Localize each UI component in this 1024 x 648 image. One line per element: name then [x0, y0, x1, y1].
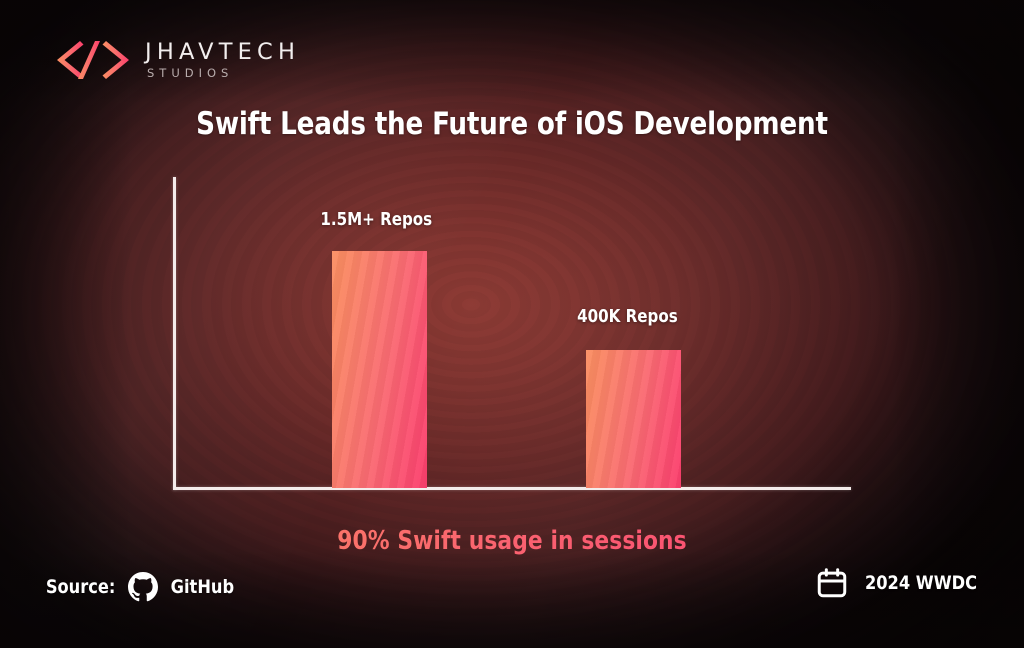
- highlight-stat: 90% Swift usage in sessions: [26, 526, 999, 556]
- chart-x-axis: [173, 487, 851, 490]
- bar-texture: [586, 350, 681, 488]
- source-attribution: Source: GitHub: [44, 572, 236, 602]
- chart-y-axis: [173, 177, 176, 490]
- chart-bar: [332, 251, 427, 488]
- bar-value-label: 400K Repos: [577, 307, 678, 327]
- source-name: GitHub: [171, 576, 234, 598]
- calendar-icon: [815, 566, 849, 600]
- bar-value-label: 1.5M+ Repos: [320, 210, 432, 230]
- chart-bar: [586, 350, 681, 488]
- event-attribution: 2024 WWDC: [815, 566, 980, 600]
- source-label: Source:: [46, 576, 116, 598]
- infographic-poster: JHAVTECH STUDIOS Swift Leads the Future …: [0, 0, 1024, 648]
- bar-texture: [332, 251, 427, 488]
- github-icon: [128, 572, 158, 602]
- event-label: 2024 WWDC: [865, 572, 977, 594]
